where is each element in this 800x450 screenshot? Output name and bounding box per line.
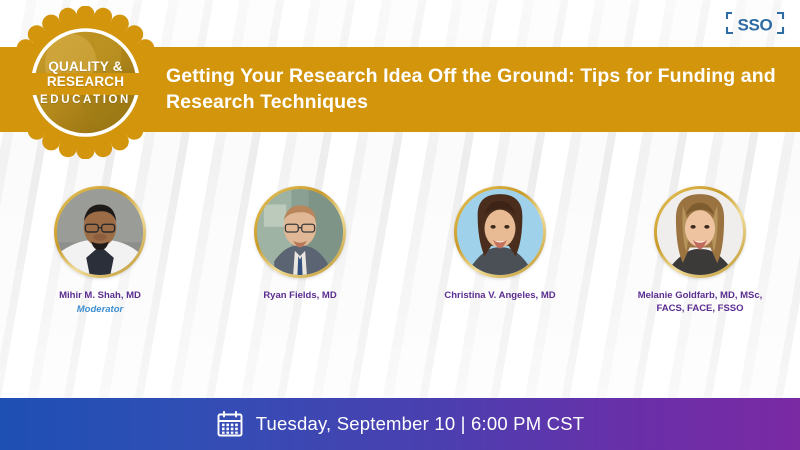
calendar-icon bbox=[216, 410, 244, 438]
speaker-card: Ryan Fields, MD bbox=[200, 186, 400, 336]
webinar-promo-slide: SSO Getting Your Research Idea Off the G… bbox=[0, 0, 800, 450]
speaker-name: Ryan Fields, MD bbox=[263, 290, 336, 303]
sso-logo: SSO bbox=[724, 8, 786, 38]
avatar bbox=[454, 186, 546, 278]
speaker-card: Christina V. Angeles, MD bbox=[400, 186, 600, 336]
page-title: Getting Your Research Idea Off the Groun… bbox=[166, 64, 776, 115]
avatar bbox=[54, 186, 146, 278]
speaker-card: Melanie Goldfarb, MD, MSc, FACS, FACE, F… bbox=[600, 186, 800, 336]
top-bar: SSO bbox=[0, 0, 800, 47]
avatar bbox=[654, 186, 746, 278]
speaker-name: Melanie Goldfarb, MD, MSc, FACS, FACE, F… bbox=[625, 290, 775, 315]
headshot-ryan-fields bbox=[257, 189, 343, 275]
svg-text:SSO: SSO bbox=[737, 16, 772, 35]
headshot-christina-angeles bbox=[457, 189, 543, 275]
speaker-name: Mihir M. Shah, MD bbox=[59, 290, 141, 303]
speaker-card: Mihir M. Shah, MD Moderator bbox=[0, 186, 200, 336]
speaker-name: Christina V. Angeles, MD bbox=[444, 290, 555, 303]
headshot-mihir-shah bbox=[57, 189, 143, 275]
avatar bbox=[254, 186, 346, 278]
event-date-time: Tuesday, September 10 | 6:00 PM CST bbox=[256, 413, 585, 435]
date-bar: Tuesday, September 10 | 6:00 PM CST bbox=[0, 398, 800, 450]
speakers-row: Mihir M. Shah, MD Moderator bbox=[0, 186, 800, 336]
speaker-role: Moderator bbox=[77, 304, 123, 315]
headshot-melanie-goldfarb bbox=[657, 189, 743, 275]
